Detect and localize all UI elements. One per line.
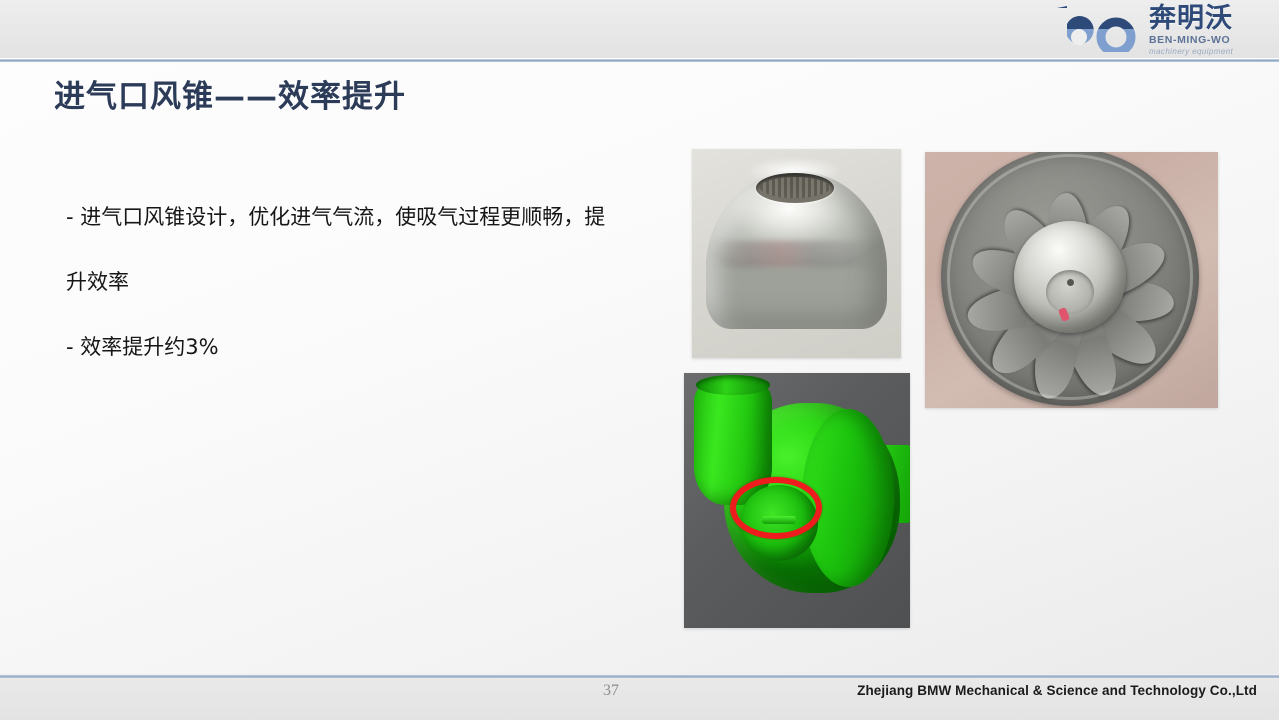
bullet-line-2: - 效率提升约3% bbox=[66, 315, 606, 380]
impeller-disc bbox=[941, 152, 1199, 406]
impeller-hub-center bbox=[1046, 270, 1094, 314]
company-name-footer: Zhejiang BMW Mechanical & Science and Te… bbox=[857, 683, 1257, 698]
impeller-hub-bolt bbox=[1067, 279, 1074, 286]
impeller-blade bbox=[964, 277, 1074, 336]
impeller-blade bbox=[1069, 277, 1176, 324]
cone-threaded-hole bbox=[756, 173, 834, 203]
impeller-blade bbox=[1053, 198, 1141, 308]
impeller-blade bbox=[1061, 233, 1172, 315]
page-number: 37 bbox=[596, 682, 626, 700]
impeller-photo bbox=[925, 152, 1218, 408]
logo-tagline: machinery equipment bbox=[1149, 47, 1233, 57]
bo-monogram-icon bbox=[1053, 6, 1145, 52]
red-highlight-annotation bbox=[730, 477, 822, 539]
impeller-blade bbox=[966, 239, 1077, 315]
impeller-hub-cone bbox=[1014, 221, 1126, 333]
cone-reflection-band bbox=[712, 241, 880, 267]
page-title: 进气口风锥——效率提升 bbox=[54, 77, 406, 117]
impeller-blade bbox=[1058, 281, 1165, 376]
bullet-line-1: - 进气口风锥设计，优化进气气流，使吸气过程更顺畅，提升效率 bbox=[66, 185, 606, 315]
impeller-blade bbox=[994, 200, 1086, 308]
body-text: - 进气口风锥设计，优化进气气流，使吸气过程更顺畅，提升效率 - 效率提升约3% bbox=[66, 185, 606, 380]
impeller-blade bbox=[1046, 192, 1090, 297]
impeller-blade bbox=[1027, 293, 1089, 403]
impeller-red-marker bbox=[1058, 307, 1070, 322]
slide: 奔明沃 BEN-MING-WO machinery equipment 进气口风… bbox=[0, 0, 1279, 720]
impeller-blade bbox=[1051, 290, 1124, 401]
company-logo: 奔明沃 BEN-MING-WO machinery equipment bbox=[1053, 4, 1265, 58]
logo-wordmark: 奔明沃 BEN-MING-WO machinery equipment bbox=[1149, 5, 1233, 57]
inlet-cone-photo bbox=[692, 149, 901, 358]
blower-cad-render bbox=[684, 373, 910, 628]
impeller-blade bbox=[981, 283, 1084, 384]
logo-chinese-name: 奔明沃 bbox=[1149, 5, 1233, 33]
logo-english-name: BEN-MING-WO bbox=[1149, 34, 1233, 46]
